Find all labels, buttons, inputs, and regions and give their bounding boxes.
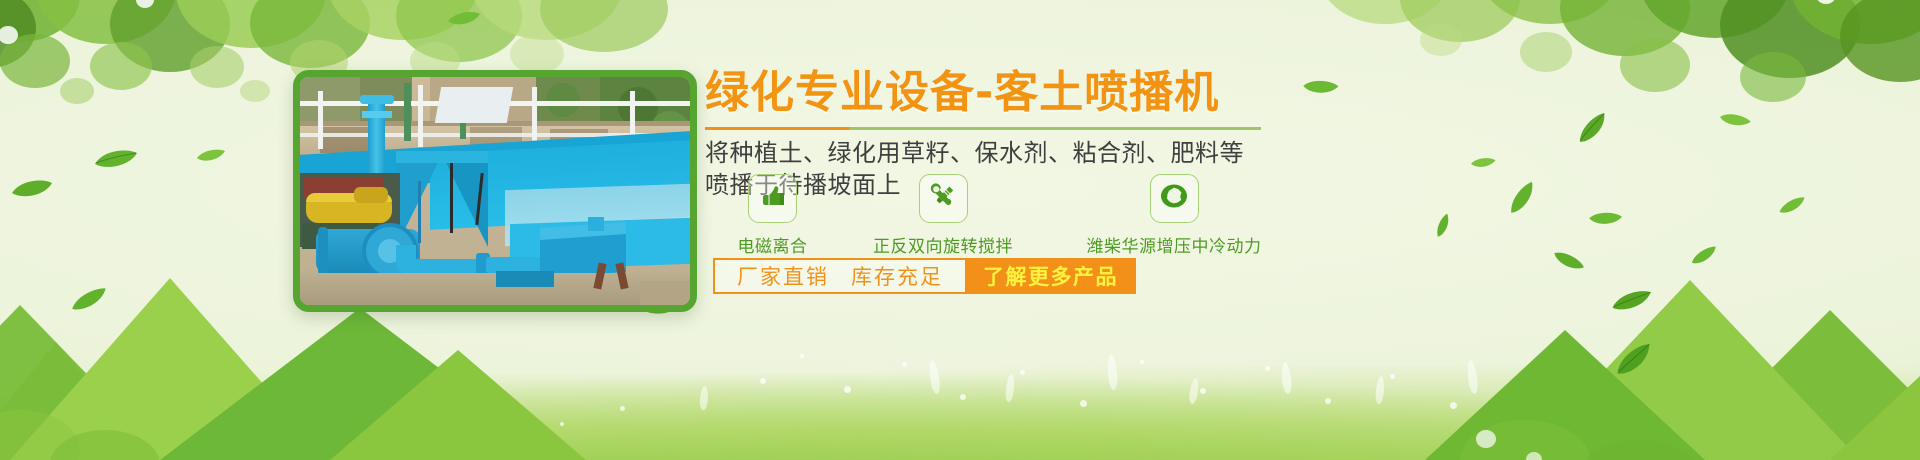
floating-leaf [1547,244,1587,282]
floating-leaf [93,148,139,175]
floating-leaf [1776,194,1810,221]
learn-more-button[interactable]: 了解更多产品 [965,258,1136,294]
subtitle-line-1: 将种植土、绿化用草籽、保水剂、粘合剂、肥料等 [705,138,1405,170]
gear-engine-icon [1159,181,1189,216]
promo-banner: 绿化专业设备-客土喷播机 将种植土、绿化用草籽、保水剂、粘合剂、肥料等 喷播于待… [0,0,1920,460]
feature-label: 正反双向旋转搅拌 [873,232,1013,257]
page-title: 绿化专业设备-客土喷播机 [705,70,1405,116]
feature-icon-box [748,174,797,223]
product-photo-card[interactable] [293,70,697,312]
learn-more-button-label: 了解更多产品 [983,261,1118,291]
title-divider [705,127,1261,130]
feature-label: 电磁离合 [738,232,808,257]
product-photo [300,77,690,305]
floating-leaf [1586,207,1623,235]
thumbs-up-icon [759,182,787,215]
cta-tag-stock: 库存充足 [851,261,943,291]
floating-leaf [10,178,54,204]
feature-icon-box [919,174,968,223]
feature-item-weichai-power[interactable]: 潍柴华源增压中冷动力 [1046,174,1302,257]
foliage-cluster-top-right [1320,0,1920,170]
floating-leaf [447,10,481,32]
cta-tag-direct-sales: 厂家直销 [737,261,829,291]
tools-wrench-screwdriver-icon [929,182,957,215]
feature-label: 潍柴华源增压中冷动力 [1087,232,1262,257]
floating-leaf [1469,155,1497,176]
floating-leaf [1502,178,1546,221]
floating-leaf [1687,243,1722,272]
floating-leaf [1430,211,1460,243]
floating-leaf [1570,109,1617,152]
feature-item-bidirectional-mixing[interactable]: 正反双向旋转搅拌 [840,174,1046,257]
feature-icon-box [1150,174,1199,223]
feature-item-electromagnetic-clutch[interactable]: 电磁离合 [705,174,840,257]
cta-bar: 厂家直销 库存充足 了解更多产品 [713,258,1136,294]
cta-tag-group: 厂家直销 库存充足 [713,258,965,294]
floating-leaf [1715,106,1753,138]
feature-list: 电磁离合 正反双向旋转搅拌 [705,174,1302,257]
floating-leaf [196,148,226,168]
